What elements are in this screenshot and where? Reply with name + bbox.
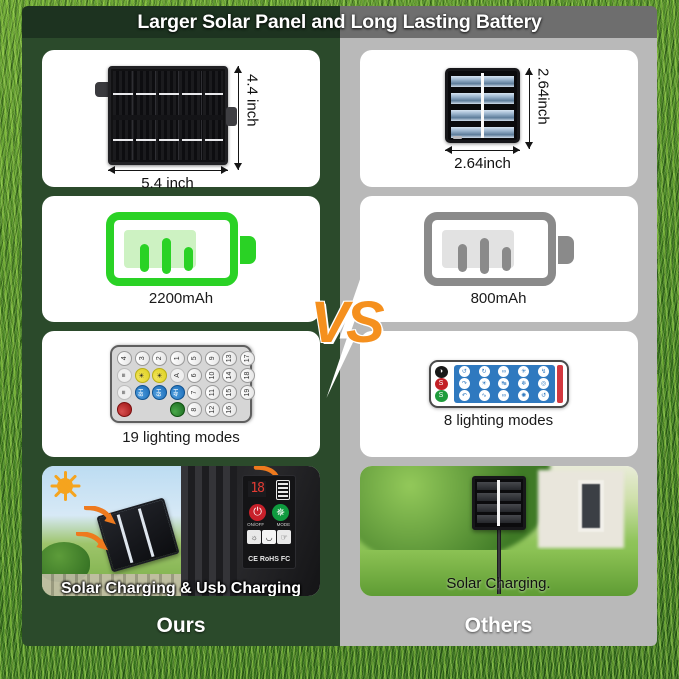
remote-key-9: 9 (205, 351, 220, 366)
others-battery-card: 800mAh (360, 196, 638, 322)
battery-icon (424, 212, 574, 286)
remote-key-3: ∞ (498, 366, 509, 377)
remote-key-8: 8 (187, 402, 202, 417)
ours-photo-pair: 18 ⏻ ✵ ON/OFF MODE ☼ ◡ ☞ CE RoHS FC (42, 466, 320, 596)
remote-key-6: 6 (187, 368, 202, 383)
remote-key-sun-2: ☀ (152, 368, 167, 383)
others-solar-height-label: 2.64inch (535, 68, 552, 125)
remote-color-keys: ◑ S S (435, 365, 452, 403)
battery-body (106, 212, 238, 286)
others-remote-card: ◑ S S ↺ ↻ ∞ ✳ ↯ ↷ ☀ ↹ ❄ ◎ (360, 331, 638, 457)
remote-key-auto: A (170, 368, 185, 383)
battery-terminal (240, 236, 256, 264)
mode-button-label: MODE (277, 522, 291, 527)
remote-key-on (170, 402, 185, 417)
title-bar: Larger Solar Panel and Long Lasting Batt… (22, 6, 657, 38)
remote-key-15: 15 (222, 385, 237, 400)
remote-key-red: S (435, 378, 448, 390)
remote-key-8: ↹ (498, 378, 509, 389)
remote-key-9: ❄ (518, 378, 529, 389)
power-icon[interactable]: ⏻ (249, 504, 266, 521)
remote-key-10: 10 (205, 368, 220, 383)
height-dimension-line (529, 68, 531, 149)
remote-side-strip (557, 365, 563, 403)
remote-key-7: 7 (187, 385, 202, 400)
remote-key-1: ↺ (459, 366, 470, 377)
battery-terminal (558, 236, 574, 264)
battery-icon (106, 212, 256, 286)
ours-battery-capacity-label: 2200mAh (149, 290, 213, 307)
remote-key-17: 17 (240, 351, 255, 366)
remote-key-15: ↺ (538, 390, 549, 401)
others-solar-width-label: 2.64inch (427, 155, 539, 172)
others-solar-diagram: 2.64inch 2.64inch (399, 60, 599, 178)
ours-remote-card: ≡ ≡ 4 8H ☀ 3 6H ☀ (42, 331, 320, 457)
certification-marks: CE RoHS FC (246, 556, 292, 563)
remote-key-power (117, 402, 132, 417)
others-battery-capacity-label: 800mAh (471, 290, 527, 307)
others-photo-card: Solar Charging. (360, 466, 638, 596)
touch-icon[interactable]: ☞ (277, 530, 291, 544)
remote-key-5: ↯ (538, 366, 549, 377)
solar-panel-icon (108, 66, 228, 165)
column-ours: 5.4 inch 4.4 inch 2200mAh (22, 38, 340, 606)
remote-key-5: 5 (187, 351, 202, 366)
battery-bar-2 (480, 238, 489, 274)
brightness-icon[interactable]: ☼ (247, 530, 261, 544)
dim-icon[interactable]: ◡ (262, 530, 276, 544)
remote-key-13: 13 (222, 351, 237, 366)
width-dimension-line (108, 170, 228, 172)
power-button-label: ON/OFF (247, 522, 264, 527)
remote-key-11: ↶ (459, 390, 470, 401)
width-dimension-line (445, 150, 520, 152)
remote-key-spacer-3 (240, 402, 255, 417)
others-remote-caption: 8 lighting modes (444, 412, 553, 429)
remote-key-6h: 6H (152, 385, 167, 400)
battery-bar-2 (162, 238, 171, 274)
others-solar-charging-photo: Solar Charging. (360, 466, 638, 596)
remote-control-icon: ≡ ≡ 4 8H ☀ 3 6H ☀ (110, 345, 252, 423)
remote-key-sun-1: ☀ (135, 368, 150, 383)
remote-key-11: 11 (205, 385, 220, 400)
remote-key-8h: 8H (135, 385, 150, 400)
ours-photo-caption: Solar Charging & Usb Charging (42, 580, 320, 596)
remote-key-2: ↻ (479, 366, 490, 377)
others-photo-caption: Solar Charging. (360, 575, 638, 592)
solar-panel-icon (445, 68, 520, 143)
remote-control-icon: ◑ S S ↺ ↻ ∞ ✳ ↯ ↷ ☀ ↹ ❄ ◎ (429, 360, 569, 408)
remote-key-16: 16 (222, 402, 237, 417)
battery-bar-1 (140, 244, 149, 272)
remote-key-12: 12 (205, 402, 220, 417)
footer-bar: Ours Others (22, 606, 657, 646)
remote-key-4: ✳ (518, 366, 529, 377)
control-panel-face: 18 ⏻ ✵ ON/OFF MODE ☼ ◡ ☞ CE RoHS FC (242, 475, 296, 569)
column-others: 2.64inch 2.64inch 800mAh (340, 38, 657, 606)
remote-key-6: ↷ (459, 378, 470, 389)
others-solar-card: 2.64inch 2.64inch (360, 50, 638, 187)
gear-icon[interactable]: ✵ (272, 504, 289, 521)
ours-solar-height-label: 4.4 inch (244, 74, 261, 127)
panel-mount-tab-right-icon (226, 107, 237, 126)
ours-photo-card: 18 ⏻ ✵ ON/OFF MODE ☼ ◡ ☞ CE RoHS FC (42, 466, 320, 596)
comparison-board: Larger Solar Panel and Long Lasting Batt… (22, 6, 657, 646)
remote-key-spacer (135, 402, 150, 417)
battery-level-icon (276, 480, 290, 500)
columns-container: 5.4 inch 4.4 inch 2200mAh (22, 38, 657, 606)
remote-key-4: 4 (117, 351, 132, 366)
door (578, 480, 604, 532)
remote-key-spacer-2 (152, 402, 167, 417)
battery-bar-3 (184, 247, 193, 271)
remote-key-14: ✺ (518, 390, 529, 401)
remote-key-19: 19 (240, 385, 255, 400)
ours-solar-width-label: 5.4 inch (108, 175, 228, 192)
page-title: Larger Solar Panel and Long Lasting Batt… (22, 6, 657, 38)
height-dimension-line (238, 66, 240, 170)
remote-key-1: 1 (170, 351, 185, 366)
led-display: 18 (248, 481, 266, 497)
footer-label-others: Others (340, 606, 657, 646)
remote-key-14: 14 (222, 368, 237, 383)
ours-remote-caption: 19 lighting modes (122, 429, 240, 446)
remote-key-bright-down: ≡ (117, 368, 132, 383)
battery-bar-1 (458, 244, 467, 272)
ours-battery-card: 2200mAh (42, 196, 320, 322)
remote-key-bright-up: ≡ (117, 385, 132, 400)
housing-ribs (181, 466, 237, 596)
remote-key-18: 18 (240, 368, 255, 383)
remote-key-4h: 4H (170, 385, 185, 400)
battery-bar-3 (502, 247, 511, 271)
remote-key-black: ◑ (435, 366, 448, 378)
remote-key-12: ∿ (479, 390, 490, 401)
ours-solar-diagram: 5.4 inch 4.4 inch (74, 60, 289, 178)
remote-key-7: ☀ (479, 378, 490, 389)
ours-usb-charging-photo: 18 ⏻ ✵ ON/OFF MODE ☼ ◡ ☞ CE RoHS FC (181, 466, 320, 596)
remote-keypad: ↺ ↻ ∞ ✳ ↯ ↷ ☀ ↹ ❄ ◎ ↶ ∿ ∞ ✺ ↺ (454, 365, 555, 403)
battery-body (424, 212, 556, 286)
curved-arrow-icon-2 (76, 532, 110, 552)
ours-solar-charging-photo (42, 466, 181, 596)
remote-key-10: ◎ (538, 378, 549, 389)
remote-key-2: 2 (152, 351, 167, 366)
footer-label-ours: Ours (22, 606, 340, 646)
curved-arrow-icon (84, 506, 118, 526)
ours-solar-card: 5.4 inch 4.4 inch (42, 50, 320, 187)
sun-icon (52, 473, 78, 499)
remote-key-3: 3 (135, 351, 150, 366)
solar-panel-icon (472, 476, 526, 530)
ours-remote-diagram: ≡ ≡ 4 8H ☀ 3 6H ☀ (106, 343, 256, 425)
remote-key-green: S (435, 390, 448, 402)
remote-key-13: ∞ (498, 390, 509, 401)
